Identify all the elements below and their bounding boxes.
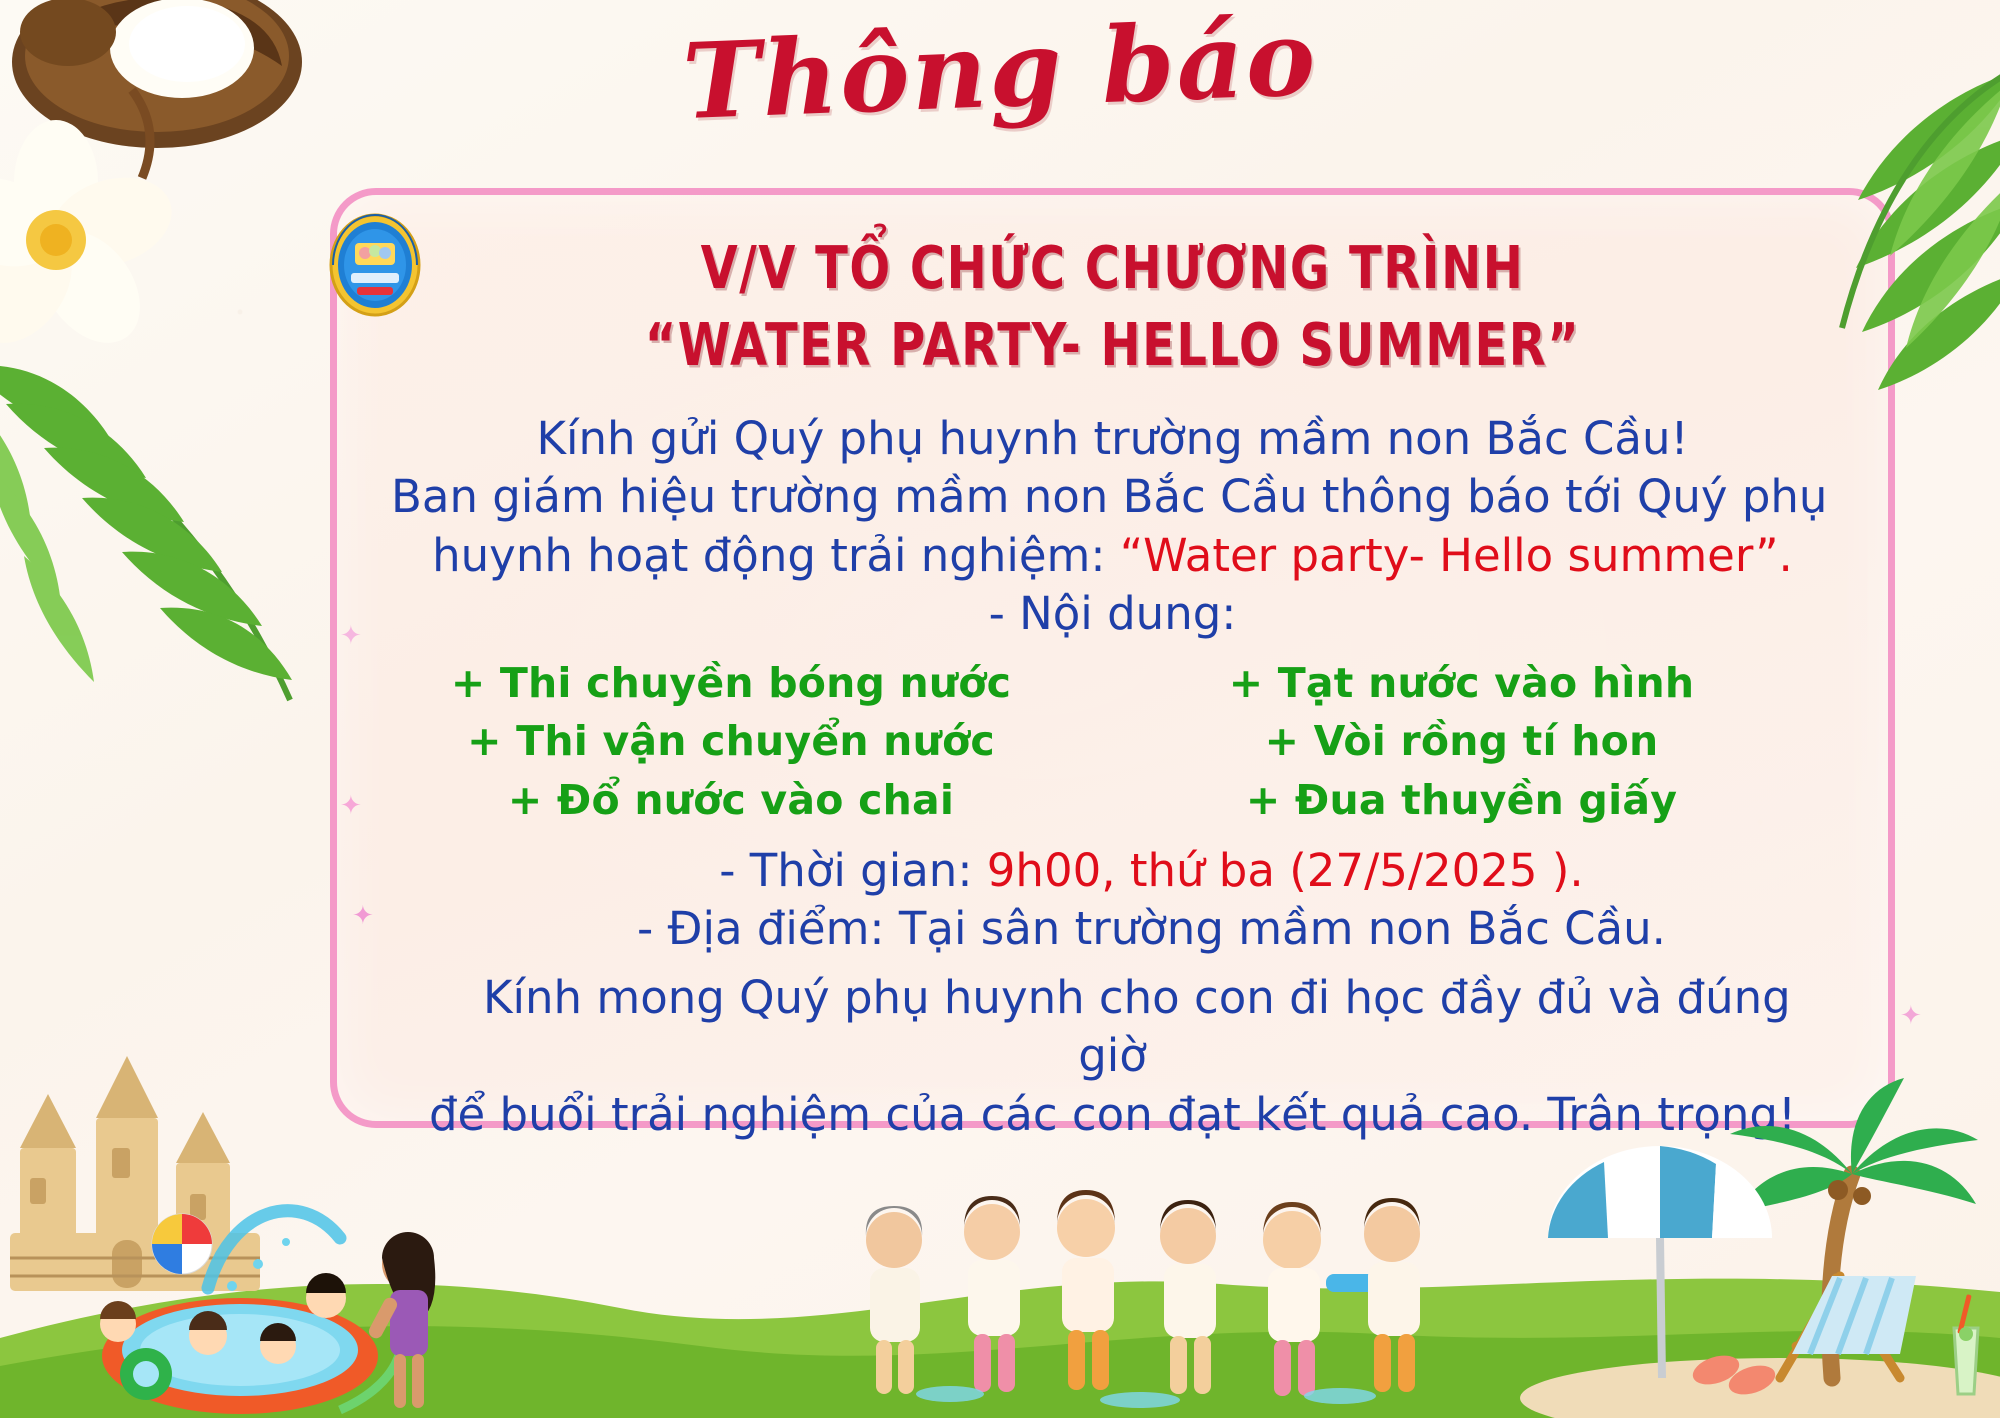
activity-item: + Đổ nước vào chai	[431, 775, 1031, 826]
sparkle-icon: ✦	[352, 900, 374, 931]
closing-line-2: để buổi trải nghiệm của các con đạt kết …	[391, 1086, 1834, 1145]
announcement-card: V/V TỔ CHỨC CHƯƠNG TRÌNH “WATER PARTY- H…	[330, 188, 1895, 1128]
time-line: - Thời gian: 9h00, thứ ba (27/5/2025 ).	[391, 842, 1834, 901]
program-name-quoted: “Water party- Hello summer”.	[1120, 529, 1793, 582]
sparkle-icon: ✦	[340, 790, 362, 821]
intro-paragraph: Ban giám hiệu trường mầm non Bắc Cầu thô…	[391, 468, 1834, 585]
heading-line-1: V/V TỔ CHỨC CHƯƠNG TRÌNH	[701, 235, 1525, 303]
greeting-line: Kính gửi Quý phụ huynh trường mầm non Bắ…	[391, 410, 1834, 469]
closing-line-1: Kính mong Quý phụ huynh cho con đi học đ…	[391, 969, 1834, 1086]
sparkle-icon: ✦	[1900, 1000, 1922, 1031]
activity-item: + Thi vận chuyển nước	[431, 716, 1031, 767]
poster-canvas: ✦ ✦ ✦ ✦ Thông báo V/V TỔ CHỨC CHƯƠNG TRÌ…	[0, 0, 2000, 1418]
announcement-body: Kính gửi Quý phụ huynh trường mầm non Bắ…	[377, 410, 1848, 1145]
time-label: - Thời gian:	[719, 844, 987, 897]
content-label: - Nội dung:	[391, 585, 1834, 644]
school-emblem-icon	[327, 213, 423, 319]
heading-line-2: “WATER PARTY- HELLO SUMMER”	[377, 314, 1848, 380]
activity-item: + Thi chuyền bóng nước	[431, 658, 1031, 709]
activity-item: + Tạt nước vào hình	[1041, 658, 1834, 709]
place-line: - Địa điểm: Tại sân trường mầm non Bắc C…	[391, 900, 1834, 959]
closing-paragraph: Kính mong Quý phụ huynh cho con đi học đ…	[391, 969, 1834, 1145]
event-meta: - Thời gian: 9h00, thứ ba (27/5/2025 ). …	[391, 842, 1834, 959]
poster-heading: V/V TỔ CHỨC CHƯƠNG TRÌNH “WATER PARTY- H…	[377, 237, 1848, 379]
activities-list: + Thi chuyền bóng nước + Tạt nước vào hì…	[391, 658, 1834, 826]
activity-item: + Vòi rồng tí hon	[1041, 716, 1834, 767]
sparkle-icon: ✦	[340, 620, 362, 651]
time-value: 9h00, thứ ba (27/5/2025 ).	[987, 844, 1584, 897]
activity-item: + Đua thuyền giấy	[1041, 775, 1834, 826]
